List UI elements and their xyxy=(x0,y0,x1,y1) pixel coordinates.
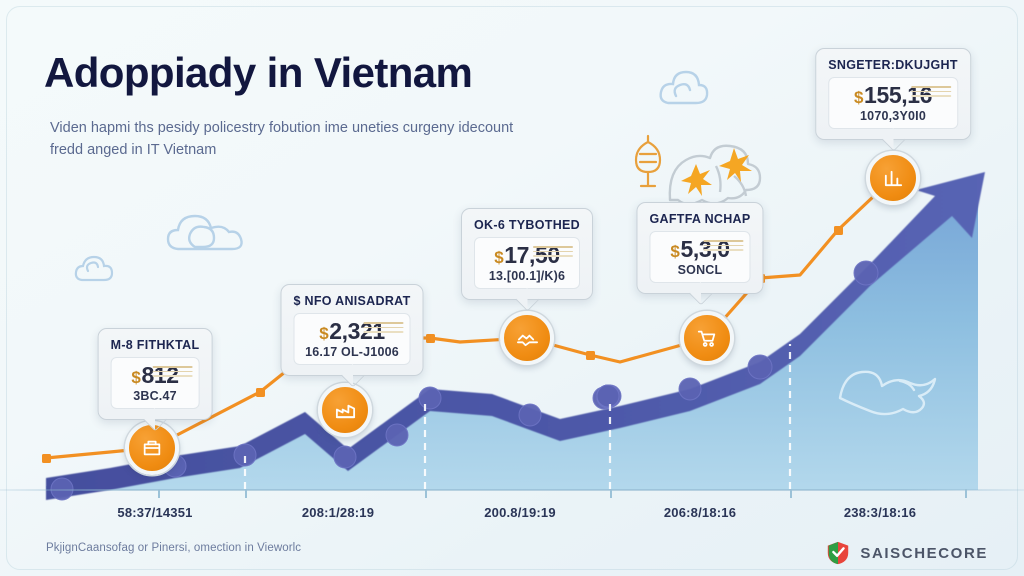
callout-sublabel: 13.[00.1]/K)6 xyxy=(484,269,570,283)
callout-sublabel: 3BC.47 xyxy=(121,389,190,403)
callout-value-row: $ 155,16 xyxy=(838,83,948,107)
callout-sublabel: 16.17 OL-J1006 xyxy=(304,345,401,359)
callout-sublabel: SONCL xyxy=(659,263,740,277)
callout-value: 5,3,0 xyxy=(680,237,729,261)
badge-factory[interactable] xyxy=(318,383,372,437)
callout-value-row: $ 5,3,0 xyxy=(659,237,740,261)
page-title: Adoppiady in Vietnam xyxy=(44,52,604,95)
callout-value: 17,50 xyxy=(504,243,560,267)
cloud-doodle-small xyxy=(76,257,112,280)
callout-card[interactable]: M-8 FITHKTAL $ 812 3BC.47 xyxy=(98,328,213,420)
callout-label: GAFTFA NCHAP xyxy=(649,212,750,226)
callout-label: OK-6 TYBOTHED xyxy=(474,218,580,232)
callout-body: $ 155,16 1070,3Y0I0 xyxy=(828,77,958,129)
currency-symbol: $ xyxy=(494,249,503,267)
callout-value: 155,16 xyxy=(864,83,932,107)
axis-tick xyxy=(610,489,612,498)
cloud-doodle-large xyxy=(168,216,242,249)
axis-label: 206:8/18:16 xyxy=(664,505,736,520)
axis-tick xyxy=(158,489,160,498)
x-axis-line xyxy=(0,489,1024,491)
callout-card[interactable]: $ NFO ANISADRAT $ 2,321 16.17 OL-J1006 xyxy=(281,284,424,376)
callout-body: $ 2,321 16.17 OL-J1006 xyxy=(294,313,411,365)
axis-label: 238:3/18:16 xyxy=(844,505,916,520)
callout-label: $ NFO ANISADRAT xyxy=(294,294,411,308)
wallet-icon xyxy=(141,437,163,459)
badge-handshake[interactable] xyxy=(500,311,554,365)
callout-value: 812 xyxy=(141,363,178,387)
currency-symbol: $ xyxy=(854,89,863,107)
callout-value-row: $ 812 xyxy=(121,363,190,387)
badge-chart[interactable] xyxy=(866,151,920,205)
axis-tick xyxy=(425,489,427,498)
chart-badge-icon xyxy=(882,167,905,190)
callout-label: SNGETER:DKUJGHT xyxy=(828,58,958,72)
callout-value: 2,321 xyxy=(329,319,385,343)
callout-body: $ 5,3,0 SONCL xyxy=(649,231,750,283)
brand-name: SAISCHECORE xyxy=(860,545,988,562)
shield-logo-icon xyxy=(825,540,851,566)
page-subtitle: Viden hapmi ths pesidy policestry fobuti… xyxy=(50,117,520,162)
callout-body: $ 812 3BC.47 xyxy=(111,357,200,409)
brand-lockup: SAISCHECORE xyxy=(825,540,988,566)
cloud-doodle-top xyxy=(661,72,707,103)
callout-label: M-8 FITHKTAL xyxy=(111,338,200,352)
factory-icon xyxy=(334,399,357,422)
handshake-icon xyxy=(516,327,539,350)
callout-value-row: $ 17,50 xyxy=(484,243,570,267)
sparkle-icons xyxy=(681,148,752,196)
axis-tick xyxy=(245,489,247,498)
currency-symbol: $ xyxy=(670,243,679,261)
header-block: Adoppiady in Vietnam Viden hapmi ths pes… xyxy=(44,52,604,162)
infographic-canvas: Adoppiady in Vietnam Viden hapmi ths pes… xyxy=(0,0,1024,576)
axis-tick xyxy=(965,489,967,498)
lantern-icon xyxy=(636,136,660,186)
axis-label: 208:1/28:19 xyxy=(302,505,374,520)
callout-card[interactable]: GAFTFA NCHAP $ 5,3,0 SONCL xyxy=(636,202,763,294)
callout-value-row: $ 2,321 xyxy=(304,319,401,343)
footer-note: PkjignCaansofag or Pinersi, omection in … xyxy=(46,542,301,554)
currency-symbol: $ xyxy=(319,325,328,343)
callout-card[interactable]: SNGETER:DKUJGHT $ 155,16 1070,3Y0I0 xyxy=(815,48,971,140)
cart-icon xyxy=(696,327,718,349)
callout-body: $ 17,50 13.[00.1]/K)6 xyxy=(474,237,580,289)
currency-symbol: $ xyxy=(131,369,140,387)
axis-label: 58:37/14351 xyxy=(117,505,192,520)
callout-card[interactable]: OK-6 TYBOTHED $ 17,50 13.[00.1]/K)6 xyxy=(461,208,593,300)
axis-label: 200.8/19:19 xyxy=(484,505,556,520)
badge-cart[interactable] xyxy=(680,311,734,365)
lantern-sparkle-decoration xyxy=(630,128,780,210)
axis-tick xyxy=(790,489,792,498)
callout-sublabel: 1070,3Y0I0 xyxy=(838,109,948,123)
